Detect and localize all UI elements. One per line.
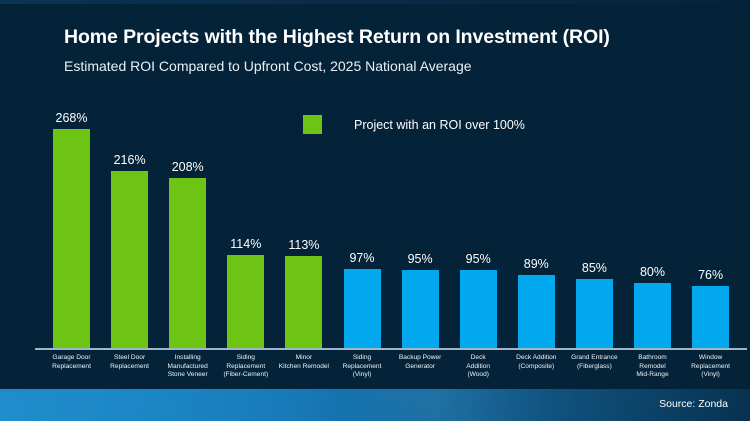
x-axis-category-label: Garage DoorReplacement bbox=[52, 354, 91, 371]
x-axis-category-label: Backup PowerGenerator bbox=[399, 354, 442, 371]
source-attribution: Source: Zonda bbox=[659, 398, 728, 410]
bar-value-label: 80% bbox=[640, 265, 665, 279]
bar-value-label: 113% bbox=[288, 238, 319, 252]
bar[interactable] bbox=[227, 255, 264, 348]
bar[interactable] bbox=[111, 171, 148, 348]
x-axis-category-label: BathroomRemodelMid-Range bbox=[636, 354, 668, 380]
bar[interactable] bbox=[634, 283, 671, 348]
bar-value-label: 89% bbox=[524, 257, 549, 271]
chart-canvas: Home Projects with the Highest Return on… bbox=[0, 0, 750, 421]
bar-value-label: 97% bbox=[349, 251, 374, 265]
bar[interactable] bbox=[576, 279, 613, 348]
bar-group: 89% bbox=[518, 0, 555, 348]
bar-group: 113% bbox=[285, 0, 322, 348]
bar-group: 95% bbox=[402, 0, 439, 348]
plot-area: 268%Garage DoorReplacement216%Steel Door… bbox=[0, 0, 750, 421]
x-axis-category-label: MinorKitchen Remodel bbox=[279, 354, 329, 371]
x-axis-category-label: Deck Addition(Composite) bbox=[516, 354, 556, 371]
bar-value-label: 95% bbox=[408, 252, 433, 266]
bar[interactable] bbox=[692, 286, 729, 348]
x-axis-category-label: SidingReplacement(Fiber-Cement) bbox=[223, 354, 268, 380]
bar-group: 216% bbox=[111, 0, 148, 348]
x-axis-category-label: Steel DoorReplacement bbox=[110, 354, 149, 371]
bar-value-label: 95% bbox=[466, 252, 491, 266]
x-axis-category-label: WindowReplacement(Vinyl) bbox=[691, 354, 730, 380]
footer-band: Source: Zonda bbox=[0, 389, 750, 421]
x-axis-category-label: InstallingManufacturedStone Veneer bbox=[168, 354, 208, 380]
bar-group: 95% bbox=[460, 0, 497, 348]
bar-value-label: 76% bbox=[698, 268, 723, 282]
bar-value-label: 114% bbox=[230, 237, 261, 251]
bar-group: 80% bbox=[634, 0, 671, 348]
bar-group: 76% bbox=[692, 0, 729, 348]
bar-value-label: 268% bbox=[56, 111, 88, 125]
x-axis-category-label: SidingReplacement(Vinyl) bbox=[343, 354, 382, 380]
bar[interactable] bbox=[344, 269, 381, 348]
bar[interactable] bbox=[518, 275, 555, 348]
x-axis-category-label: Grand Entrance(Fiberglass) bbox=[571, 354, 618, 371]
bar[interactable] bbox=[460, 270, 497, 348]
bar-value-label: 216% bbox=[114, 153, 146, 167]
bar-value-label: 85% bbox=[582, 261, 607, 275]
bar-group: 97% bbox=[344, 0, 381, 348]
bar[interactable] bbox=[53, 129, 90, 348]
x-axis-line bbox=[35, 348, 747, 350]
bar-group: 268% bbox=[53, 0, 90, 348]
bar[interactable] bbox=[402, 270, 439, 348]
x-axis-category-label: DeckAddition(Wood) bbox=[466, 354, 490, 380]
bar-group: 114% bbox=[227, 0, 264, 348]
bar[interactable] bbox=[169, 178, 206, 348]
bar-group: 85% bbox=[576, 0, 613, 348]
bar-value-label: 208% bbox=[172, 160, 204, 174]
bar-group: 208% bbox=[169, 0, 206, 348]
bar[interactable] bbox=[285, 256, 322, 348]
